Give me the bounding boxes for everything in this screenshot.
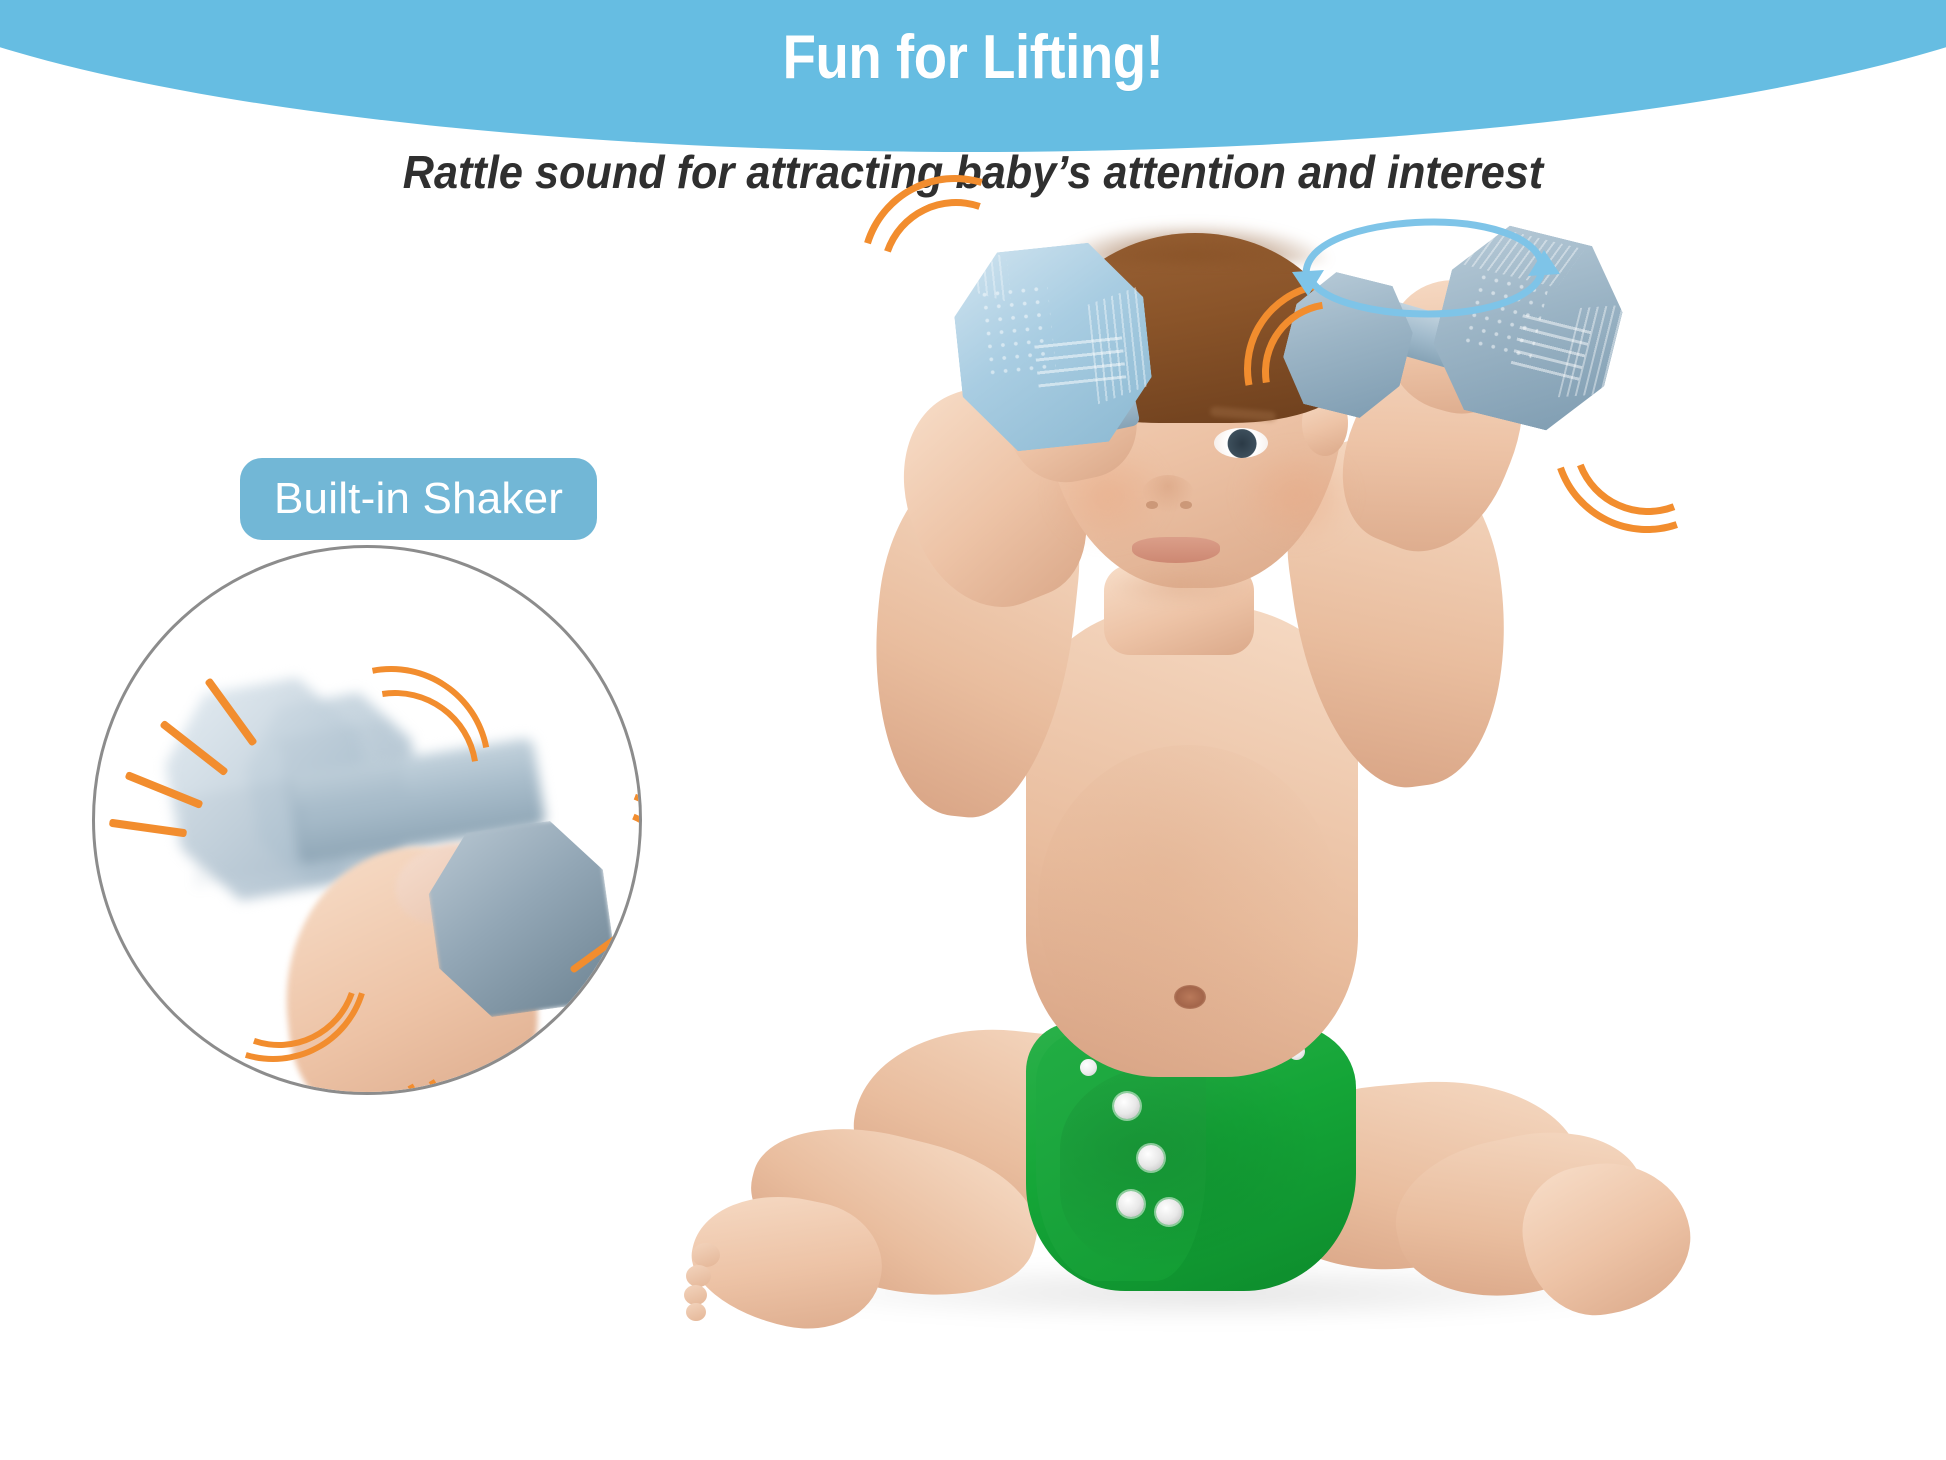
promo-banner-page: Fun for Lifting! Rattle sound for attrac… [0,0,1946,1460]
baby-torso-shading [1038,745,1338,1065]
diaper-snap [1138,1145,1164,1171]
baby-right-nostril [1180,501,1192,509]
baby-navel [1174,985,1206,1009]
diaper-snap [1156,1199,1182,1225]
diaper-snap [1114,1093,1140,1119]
shaker-detail-artwork [95,548,639,1092]
diaper-snap [1118,1191,1144,1217]
shaker-detail-circle [92,545,642,1095]
baby-diaper-shading [1060,1065,1330,1275]
baby-left-nostril [1146,501,1158,509]
baby-right-eye [1214,428,1268,458]
badge-label: Built-in Shaker [274,474,563,524]
baby-mouth [1132,537,1220,563]
baby-photo [640,185,1946,1460]
baby-left-toes [688,1241,754,1315]
rotation-arrow-icon [1266,210,1566,340]
baby-chin [1110,567,1250,607]
built-in-shaker-badge: Built-in Shaker [240,458,597,540]
baby-right-cheek [1236,443,1356,547]
page-title: Fun for Lifting! [117,22,1829,93]
diaper-snap [1080,1059,1097,1076]
